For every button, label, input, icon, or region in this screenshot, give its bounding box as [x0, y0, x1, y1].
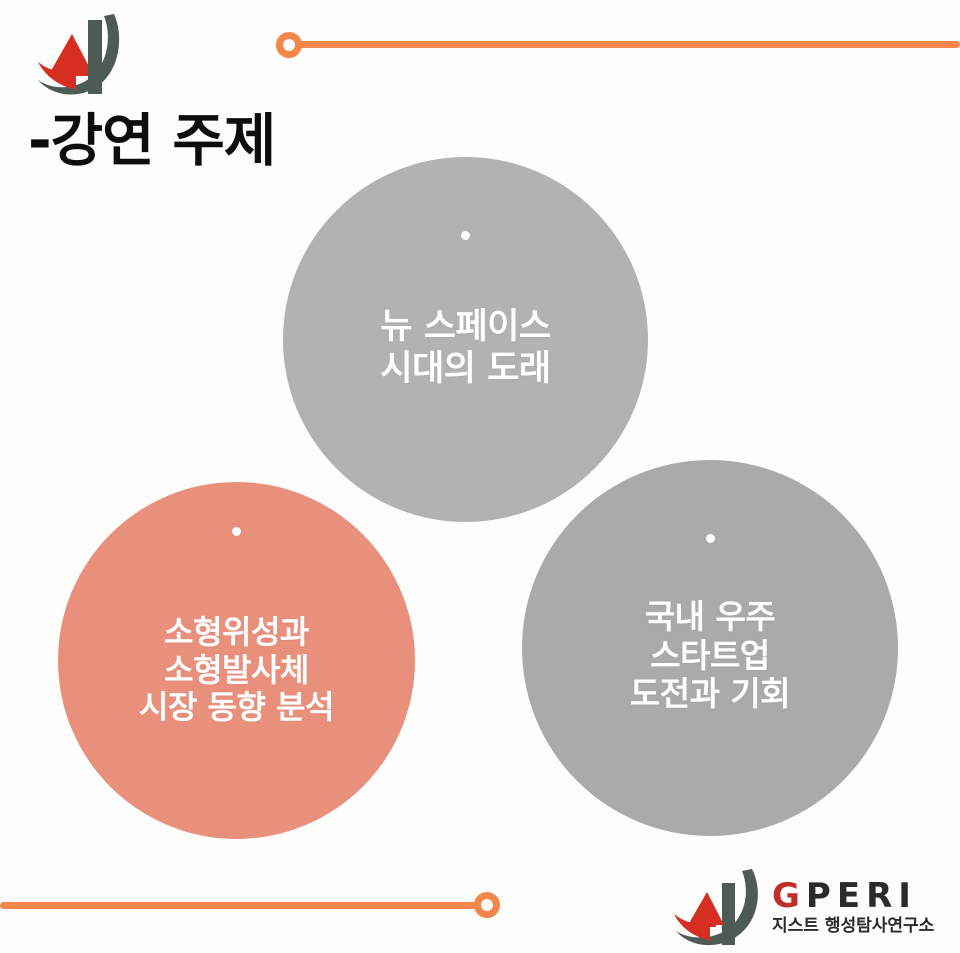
- footer-wordmark-initial: G: [772, 876, 806, 916]
- gperi-swoosh-logo-icon: [26, 10, 130, 100]
- gperi-swoosh-logo-icon: [662, 865, 770, 949]
- footer-wordmark-main: GPERI: [772, 879, 934, 913]
- topic-bubble-new-space: 뉴 스페이스 시대의 도래: [283, 157, 648, 522]
- footer-logo: GPERI 지스트 행성탐사연구소: [662, 864, 952, 950]
- connector-node-circle-top-icon: [276, 32, 302, 58]
- topic-bubble-label: 국내 우주 스타트업 도전과 기회: [616, 598, 804, 715]
- topic-bubble-smallsat-market: 소형위성과 소형발사체 시장 동향 분석: [58, 482, 415, 839]
- connector-line-top: [296, 41, 960, 48]
- topic-bubble-label: 소형위성과 소형발사체 시장 동향 분석: [125, 614, 348, 727]
- bullet-dot-icon: [232, 527, 241, 536]
- slide-canvas: -강연 주제 뉴 스페이스 시대의 도래 소형위성과 소형발사체 시장 동향 분…: [0, 0, 960, 953]
- footer-wordmark-sub: 지스트 행성탐사연구소: [772, 918, 934, 935]
- bullet-dot-icon: [706, 534, 715, 543]
- footer-wordmark-rest: PERI: [806, 876, 917, 916]
- topic-bubble-label: 뉴 스페이스 시대의 도래: [366, 307, 564, 390]
- connector-line-bottom: [0, 902, 486, 909]
- footer-wordmark: GPERI 지스트 행성탐사연구소: [772, 879, 934, 935]
- topic-bubble-domestic-startup: 국내 우주 스타트업 도전과 기회: [522, 460, 898, 836]
- bullet-dot-icon: [461, 231, 470, 240]
- page-title: -강연 주제: [28, 113, 275, 170]
- connector-node-circle-bottom-icon: [474, 892, 500, 918]
